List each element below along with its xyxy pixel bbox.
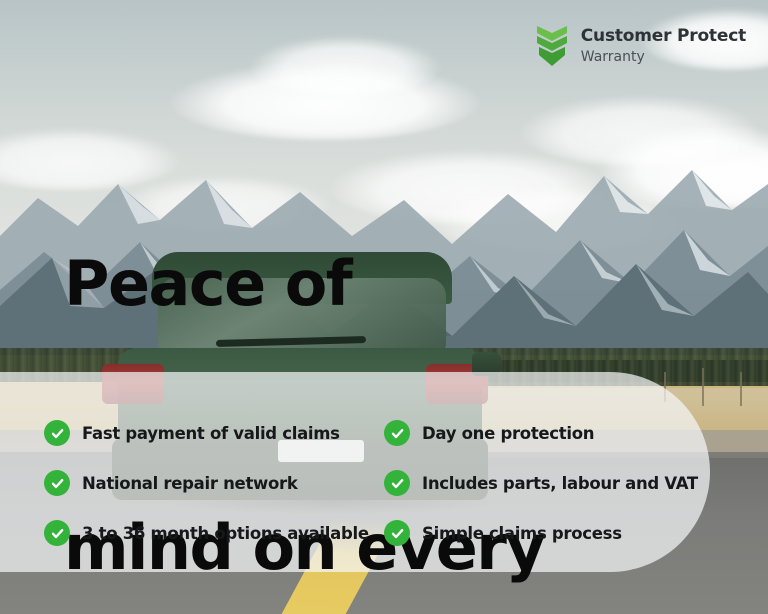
feature-item: Simple claims process <box>384 520 724 546</box>
feature-label: National repair network <box>82 474 298 493</box>
feature-item: Day one protection <box>384 420 724 446</box>
shield-chevron-icon <box>535 24 569 68</box>
feature-item: Includes parts, labour and VAT <box>384 470 724 496</box>
feature-label: Day one protection <box>422 424 594 443</box>
feature-item: Fast payment of valid claims <box>44 420 384 446</box>
utility-pole <box>740 372 742 406</box>
headline-line-1: Peace of <box>64 240 544 328</box>
check-circle-icon <box>44 470 70 496</box>
feature-label: 3 to 36 month options available <box>82 524 369 543</box>
brand-logo[interactable]: Customer Protect Warranty <box>535 24 746 68</box>
brand-name: Customer Protect <box>581 28 746 45</box>
feature-label: Simple claims process <box>422 524 622 543</box>
check-circle-icon <box>44 520 70 546</box>
check-circle-icon <box>384 520 410 546</box>
feature-list: Fast payment of valid claims Day one pro… <box>44 408 724 558</box>
feature-label: Fast payment of valid claims <box>82 424 340 443</box>
brand-logo-text: Customer Protect Warranty <box>581 28 746 64</box>
brand-tagline: Warranty <box>581 50 746 64</box>
check-circle-icon <box>384 420 410 446</box>
feature-label: Includes parts, labour and VAT <box>422 474 698 493</box>
check-circle-icon <box>384 470 410 496</box>
feature-item: 3 to 36 month options available <box>44 520 384 546</box>
feature-item: National repair network <box>44 470 384 496</box>
utility-pole <box>702 368 704 406</box>
check-circle-icon <box>44 420 70 446</box>
promo-banner: Customer Protect Warranty Peace of mind … <box>0 0 768 614</box>
